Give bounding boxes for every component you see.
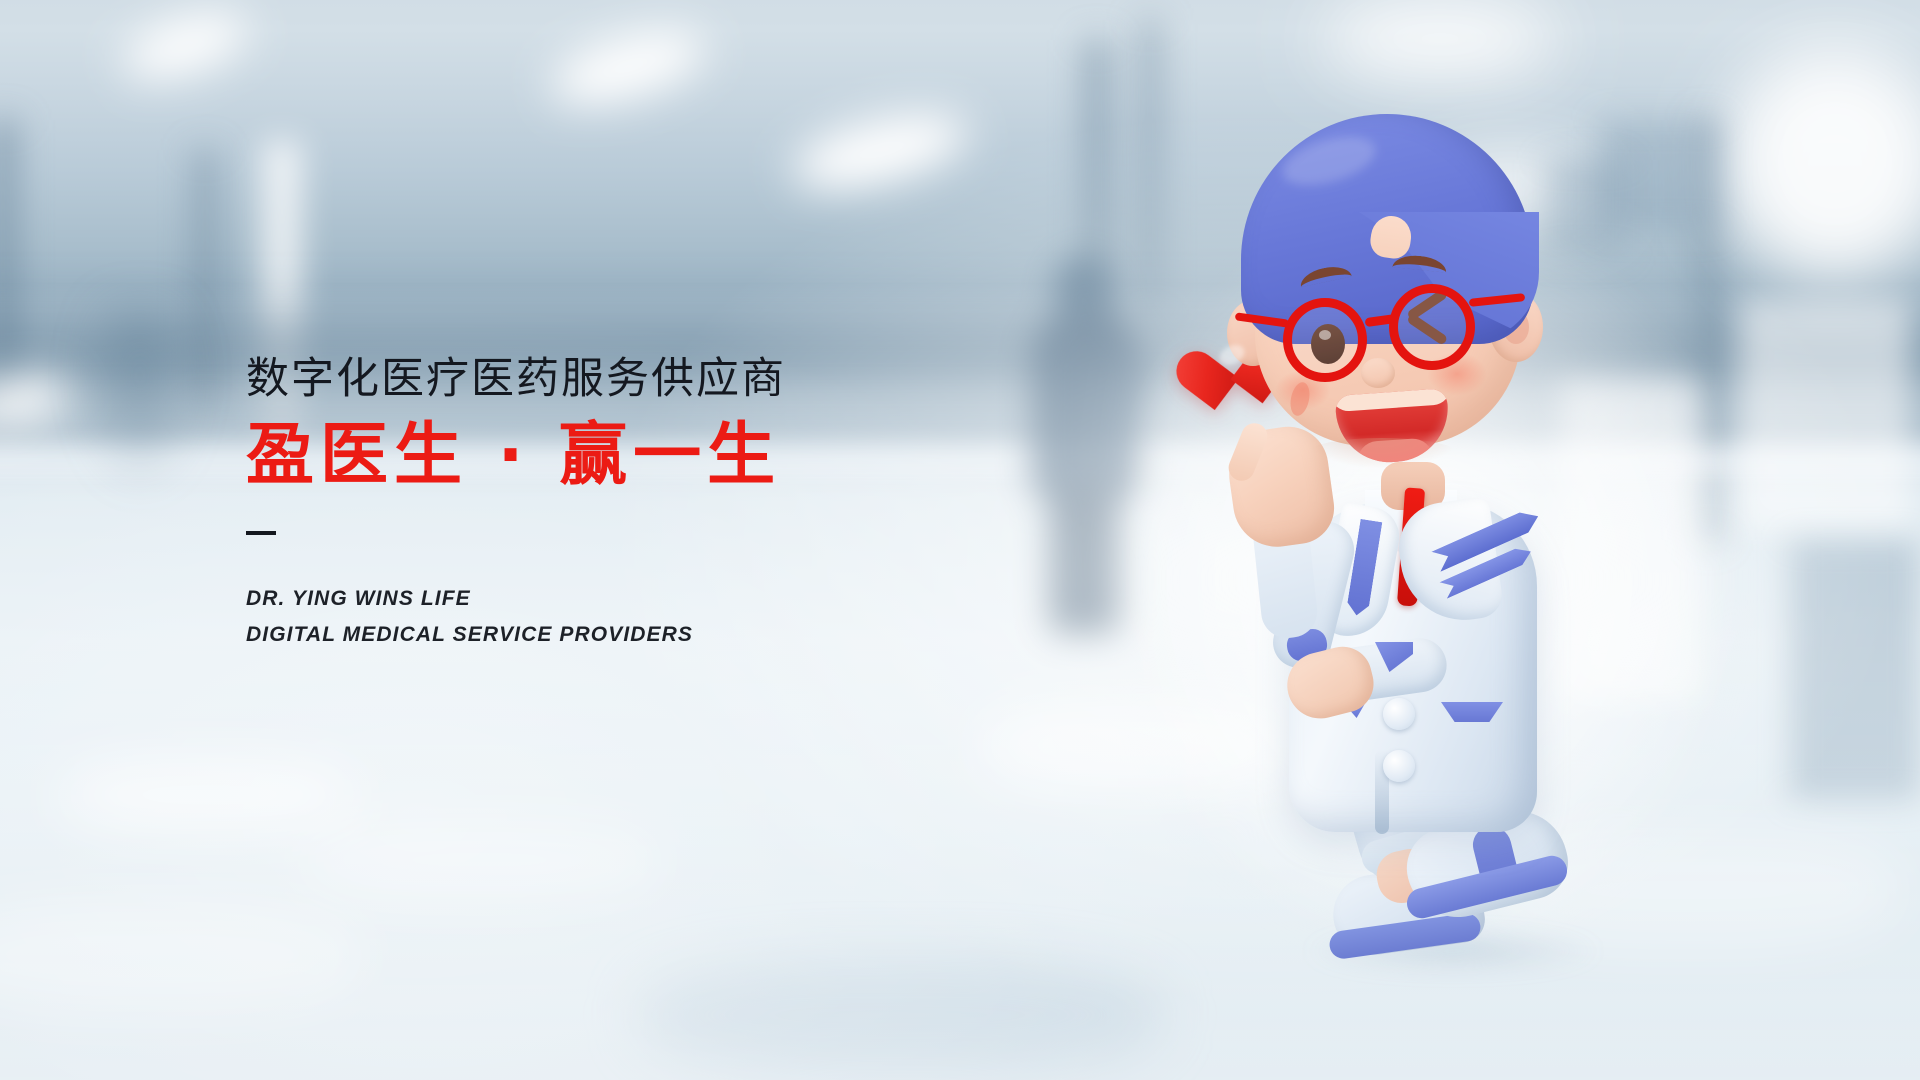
floor-reflection	[640, 960, 1160, 1070]
banner-headline: 盈医生 · 赢一生	[246, 419, 1006, 492]
banner-stage: 数字化医疗医药服务供应商 盈医生 · 赢一生 DR. YING WINS LIF…	[0, 0, 1920, 1080]
banner-kicker: 数字化医疗医药服务供应商	[246, 355, 1006, 403]
floor-reflection	[0, 900, 360, 1010]
glasses-lens-right	[1389, 284, 1475, 370]
chin-shading	[1307, 438, 1457, 468]
floor-reflection	[300, 820, 660, 900]
english-line-1: DR. YING WINS LIFE	[246, 581, 1006, 617]
banner-copy: 数字化医疗医药服务供应商 盈医生 · 赢一生 DR. YING WINS LIF…	[246, 355, 1006, 653]
headline-divider-rule	[246, 531, 276, 535]
english-line-2: DIGITAL MEDICAL SERVICE PROVIDERS	[246, 617, 1006, 653]
glasses-lens-left	[1283, 298, 1367, 382]
coat-button-upper	[1383, 698, 1415, 730]
character-head	[1241, 120, 1531, 450]
coat-button-lower	[1383, 750, 1415, 782]
glass-partition-right-lower	[1790, 540, 1920, 800]
floor-reflection	[60, 760, 360, 830]
background-figure-left	[80, 300, 200, 490]
banner-english-subtitle: DR. YING WINS LIFE DIGITAL MEDICAL SERVI…	[246, 581, 1006, 653]
figure-legs	[1050, 484, 1120, 634]
nose	[1361, 358, 1395, 388]
doctor-mascot-illustration	[1225, 50, 1655, 1050]
